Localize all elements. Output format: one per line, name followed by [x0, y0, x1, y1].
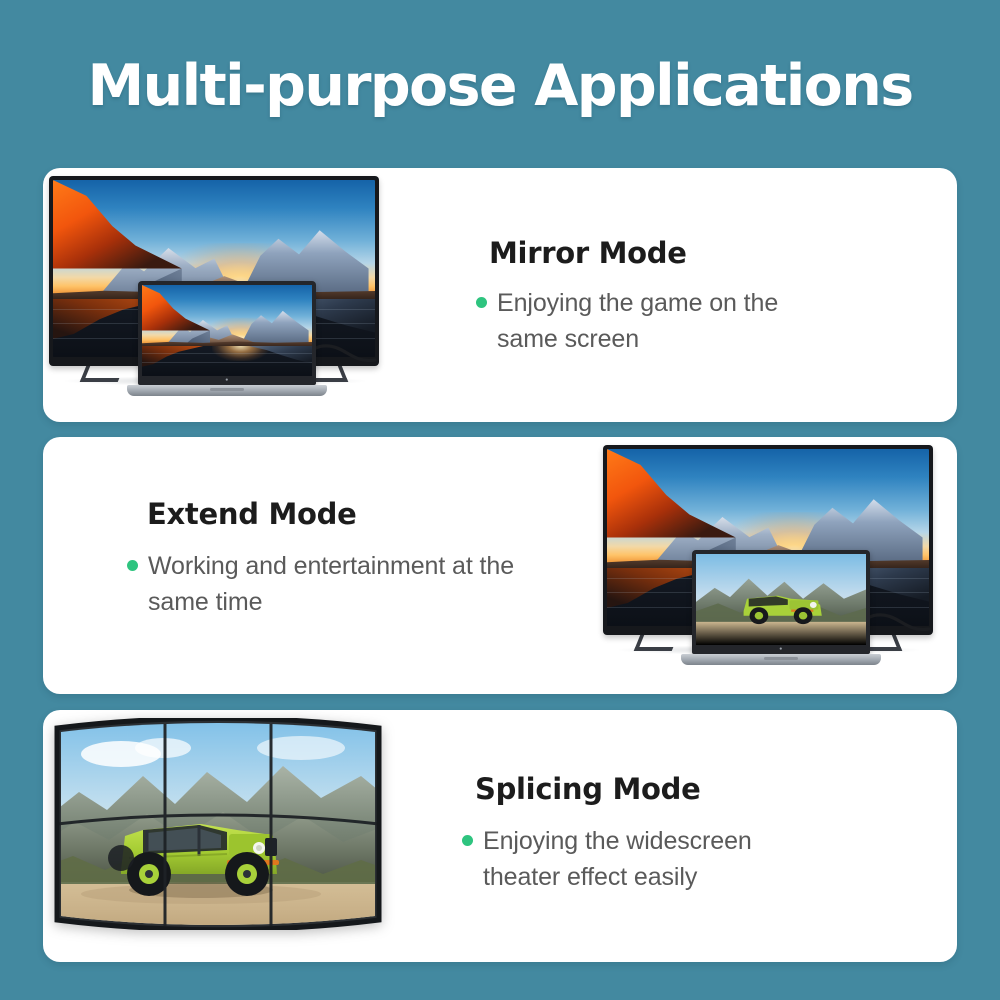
card-bullet-text: Enjoying the widescreen theater effect e… [483, 824, 822, 895]
laptop-device: ● [692, 550, 870, 665]
media-tv-laptop-extend: ● [597, 437, 957, 694]
bullet-dot-icon [127, 560, 138, 571]
card-bullet-text: Working and entertainment at the same ti… [148, 549, 527, 620]
card-title-mirror-mode: Mirror Mode [489, 236, 687, 270]
media-tv-laptop-mirror: ● [43, 168, 403, 422]
laptop-device: ● [138, 281, 316, 396]
laptop-screen-jeep [696, 554, 866, 645]
media-video-wall [43, 710, 395, 962]
page-title: Multi-purpose Applications [0, 58, 1000, 115]
card-bullet-splicing-mode: Enjoying the widescreen theater effect e… [462, 824, 822, 895]
card-extend-mode[interactable]: ● Extend Mode Working and entertainment … [43, 437, 957, 694]
bullet-dot-icon [476, 297, 487, 308]
card-mirror-mode[interactable]: ● Mirror Mode Enjoying the game on the s… [43, 168, 957, 422]
bullet-dot-icon [462, 835, 473, 846]
infographic-page: Multi-purpose Applications [0, 0, 1000, 1000]
laptop-screen-sunset [142, 285, 312, 376]
video-wall-graphic [51, 718, 385, 930]
card-bullet-text: Enjoying the game on the same screen [497, 286, 816, 357]
card-bullet-mirror-mode: Enjoying the game on the same screen [476, 286, 816, 357]
card-splicing-mode[interactable]: Splicing Mode Enjoying the widescreen th… [43, 710, 957, 962]
card-title-splicing-mode: Splicing Mode [475, 772, 700, 806]
card-bullet-extend-mode: Working and entertainment at the same ti… [127, 549, 527, 620]
card-title-extend-mode: Extend Mode [147, 497, 356, 531]
